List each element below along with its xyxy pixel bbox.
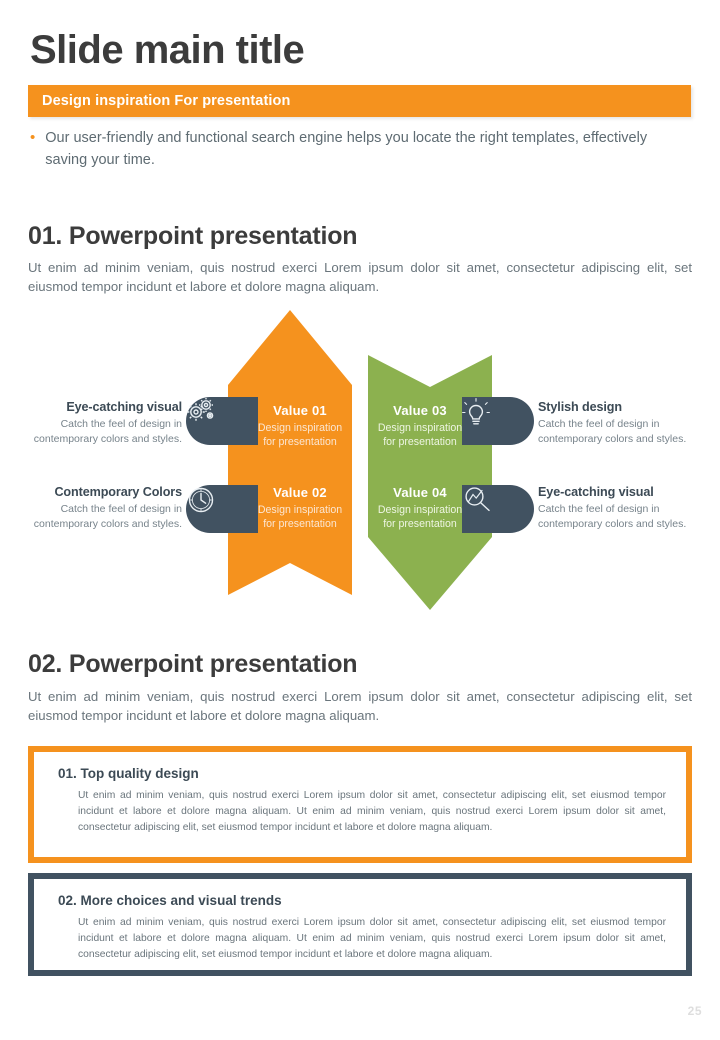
infobox-2-inner: 02. More choices and visual trends Ut en…: [34, 879, 686, 970]
value-title-03: Value 03: [360, 403, 480, 418]
page-number: 25: [688, 1004, 702, 1018]
infobox-1: 01. Top quality design Ut enim ad minim …: [28, 746, 692, 863]
arrow-shapes: [0, 305, 720, 615]
infobox-2-body: Ut enim ad minim veniam, quis nostrud ex…: [58, 915, 666, 963]
feature-text-2: Contemporary Colors Catch the feel of de…: [22, 485, 182, 531]
feature-desc-4: Catch the feel of design in contemporary…: [538, 502, 698, 531]
value-title-02: Value 02: [240, 485, 360, 500]
slide: Slide main title Design inspiration For …: [0, 0, 720, 1040]
subtitle-banner-label: Design inspiration For presentation: [42, 93, 290, 109]
orange-up-arrow: [228, 310, 352, 595]
value-desc-03-line2: for presentation: [360, 435, 480, 449]
feature-desc-3: Catch the feel of design in contemporary…: [538, 417, 698, 446]
feature-title-1: Eye-catching visual: [22, 400, 182, 414]
section-2-title: 02. Powerpoint presentation: [28, 650, 357, 679]
feature-text-1: Eye-catching visual Catch the feel of de…: [22, 400, 182, 446]
section-1-title: 01. Powerpoint presentation: [28, 222, 357, 251]
value-block-04: Value 04 Design inspiration for presenta…: [360, 485, 480, 531]
infobox-2-title: 02. More choices and visual trends: [58, 893, 666, 908]
value-title-01: Value 01: [240, 403, 360, 418]
value-title-04: Value 04: [360, 485, 480, 500]
feature-title-3: Stylish design: [538, 400, 698, 414]
value-desc-02-line1: Design inspiration: [240, 503, 360, 517]
value-desc-02-line2: for presentation: [240, 517, 360, 531]
value-block-03: Value 03 Design inspiration for presenta…: [360, 403, 480, 449]
value-desc-01-line2: for presentation: [240, 435, 360, 449]
feature-text-4: Eye-catching visual Catch the feel of de…: [538, 485, 698, 531]
bullet-icon: •: [30, 127, 35, 171]
intro-bullet-row: • Our user-friendly and functional searc…: [30, 127, 670, 171]
infobox-1-inner: 01. Top quality design Ut enim ad minim …: [34, 752, 686, 857]
feature-title-4: Eye-catching visual: [538, 485, 698, 499]
value-desc-04-line2: for presentation: [360, 517, 480, 531]
subtitle-banner: Design inspiration For presentation: [28, 85, 691, 117]
value-block-02: Value 02 Design inspiration for presenta…: [240, 485, 360, 531]
clock-icon: [186, 485, 216, 515]
green-down-arrow: [368, 355, 492, 610]
infobox-1-title: 01. Top quality design: [58, 766, 666, 781]
feature-desc-1: Catch the feel of design in contemporary…: [22, 417, 182, 446]
section-2-body: Ut enim ad minim veniam, quis nostrud ex…: [28, 687, 692, 725]
feature-text-3: Stylish design Catch the feel of design …: [538, 400, 698, 446]
page-title: Slide main title: [30, 26, 304, 74]
value-desc-03-line1: Design inspiration: [360, 421, 480, 435]
value-desc-01-line1: Design inspiration: [240, 421, 360, 435]
value-block-01: Value 01 Design inspiration for presenta…: [240, 403, 360, 449]
feature-desc-2: Catch the feel of design in contemporary…: [22, 502, 182, 531]
infobox-1-body: Ut enim ad minim veniam, quis nostrud ex…: [58, 788, 666, 836]
section-1-body: Ut enim ad minim veniam, quis nostrud ex…: [28, 258, 692, 296]
value-desc-04-line1: Design inspiration: [360, 503, 480, 517]
arrow-diagram: Eye-catching visual Catch the feel of de…: [0, 305, 720, 615]
intro-text: Our user-friendly and functional search …: [45, 127, 670, 171]
gears-icon: [186, 397, 216, 423]
feature-title-2: Contemporary Colors: [22, 485, 182, 499]
infobox-2: 02. More choices and visual trends Ut en…: [28, 873, 692, 976]
